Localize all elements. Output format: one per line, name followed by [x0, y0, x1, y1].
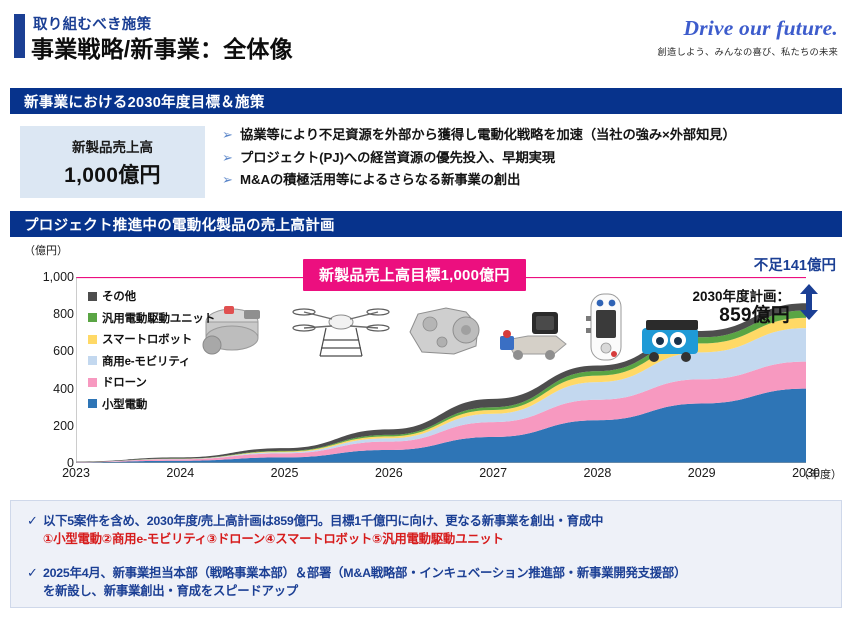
service-robot-image [578, 292, 634, 366]
chart-legend: その他汎用電動駆動ユニットスマートロボット商用e-モビリティドローン小型電動 [88, 288, 215, 417]
x-axis-tick: 2027 [479, 466, 507, 480]
legend-label: スマートロボット [102, 331, 192, 347]
legend-item: 汎用電動駆動ユニット [88, 310, 215, 326]
x-axis-tick: 2024 [166, 466, 194, 480]
legend-label: その他 [102, 288, 136, 304]
list-item: ➢ 協業等により不足資源を外部から獲得し電動化戦略を加速（当社の強み×外部知見） [222, 127, 842, 144]
footnote-text-block: 2025年4月、新事業担当本部（戦略事業本部）＆部署（M&A戦略部・インキュベー… [43, 565, 686, 601]
list-item: ➢ プロジェクト(PJ)への経営資源の優先投入、早期実現 [222, 150, 842, 167]
legend-swatch-icon [88, 378, 97, 387]
legend-swatch-icon [88, 399, 97, 408]
footnote-line: を新設し、新事業創出・育成をスピードアップ [43, 583, 686, 601]
goals-area: 新製品売上高 1,000億円 ➢ 協業等により不足資源を外部から獲得し電動化戦略… [10, 124, 842, 202]
footnote-line: 以下5案件を含め、2030年度/売上高計画は859億円。目標1千億円に向け、更な… [43, 513, 603, 531]
x-axis-tick: 2028 [584, 466, 612, 480]
e-mobility-image [498, 310, 576, 362]
bullet-text: プロジェクト(PJ)への経営資源の優先投入、早期実現 [240, 150, 555, 167]
list-item: ✓ 2025年4月、新事業担当本部（戦略事業本部）＆部署（M&A戦略部・インキュ… [19, 565, 686, 601]
kpi-label: 新製品売上高 [72, 136, 153, 156]
legend-label: 小型電動 [102, 396, 147, 412]
arrow-bullet-icon: ➢ [222, 172, 240, 188]
bullet-text: M&Aの積極活用等によるさらなる新事業の創出 [240, 172, 520, 189]
legend-label: 汎用電動駆動ユニット [102, 310, 215, 326]
legend-item: 小型電動 [88, 396, 215, 412]
x-axis-tick: 2030 [792, 466, 820, 480]
y-axis-tick: 400 [26, 382, 74, 396]
plan-annotation: 2030年度計画： 859億円 [692, 289, 790, 326]
page-title: 事業戦略/新事業：全体像 [31, 30, 293, 64]
section-bar-chart: プロジェクト推進中の電動化製品の売上高計画 [10, 211, 842, 237]
plan-annotation-value: 859億円 [692, 305, 790, 327]
footnote-text-block: 以下5案件を含め、2030年度/売上高計画は859億円。目標1千億円に向け、更な… [43, 513, 603, 549]
legend-item: ドローン [88, 374, 215, 390]
y-axis-tick: 1,000 [26, 270, 74, 284]
chart-x-axis: （年度） 20232024202520262027202820292030 [76, 466, 806, 486]
kpi-box: 新製品売上高 1,000億円 [20, 126, 205, 198]
plan-annotation-label: 2030年度計画： [692, 289, 790, 305]
footnote-line: ①小型電動②商用e-モビリティ③ドローン④スマートロボット⑤汎用電動駆動ユニット [43, 531, 603, 549]
gap-double-arrow-icon [798, 284, 820, 320]
slide-header: 取り組むべき施策 事業戦略/新事業：全体像 Drive our future. … [0, 8, 852, 64]
legend-item: スマートロボット [88, 331, 215, 347]
legend-label: ドローン [102, 374, 147, 390]
arrow-bullet-icon: ➢ [222, 127, 240, 143]
footnote-line: 2025年4月、新事業担当本部（戦略事業本部）＆部署（M&A戦略部・インキュベー… [43, 565, 686, 583]
x-axis-tick: 2026 [375, 466, 403, 480]
bullet-list: ➢ 協業等により不足資源を外部から獲得し電動化戦略を加速（当社の強み×外部知見）… [222, 127, 842, 195]
legend-item: その他 [88, 288, 215, 304]
brand-tagline: Drive our future. [683, 16, 838, 41]
y-axis-tick: 600 [26, 344, 74, 358]
chart-y-axis: 02004006008001,000 [18, 240, 74, 490]
y-axis-tick: 200 [26, 419, 74, 433]
list-item: ✓ 以下5案件を含め、2030年度/売上高計画は859億円。目標1千億円に向け、… [19, 513, 603, 549]
drone-image [292, 298, 390, 364]
check-icon: ✓ [19, 565, 43, 581]
x-axis-tick: 2029 [688, 466, 716, 480]
legend-label: 商用e-モビリティ [102, 353, 190, 369]
title-accent-bar [14, 14, 25, 58]
check-icon: ✓ [19, 513, 43, 529]
shortfall-annotation: 不足141億円 [754, 254, 836, 275]
legend-swatch-icon [88, 292, 97, 301]
legend-item: 商用e-モビリティ [88, 353, 215, 369]
brand-subtitle: 創造しよう、みんなの喜び、私たちの未来 [658, 44, 838, 58]
bullet-text: 協業等により不足資源を外部から獲得し電動化戦略を加速（当社の強み×外部知見） [240, 127, 736, 144]
gearbox-image [402, 302, 488, 360]
y-axis-tick: 800 [26, 307, 74, 321]
section-bar-goals: 新事業における2030年度目標＆施策 [10, 88, 842, 114]
kpi-value: 1,000億円 [64, 159, 161, 189]
legend-swatch-icon [88, 313, 97, 322]
footnotes-area: ✓ 以下5案件を含め、2030年度/売上高計画は859億円。目標1千億円に向け、… [10, 500, 842, 608]
legend-swatch-icon [88, 356, 97, 365]
arrow-bullet-icon: ➢ [222, 150, 240, 166]
legend-swatch-icon [88, 335, 97, 344]
x-axis-tick: 2023 [62, 466, 90, 480]
target-banner: 新製品売上高目標1,000億円 [303, 259, 526, 291]
x-axis-tick: 2025 [271, 466, 299, 480]
list-item: ➢ M&Aの積極活用等によるさらなる新事業の創出 [222, 172, 842, 189]
